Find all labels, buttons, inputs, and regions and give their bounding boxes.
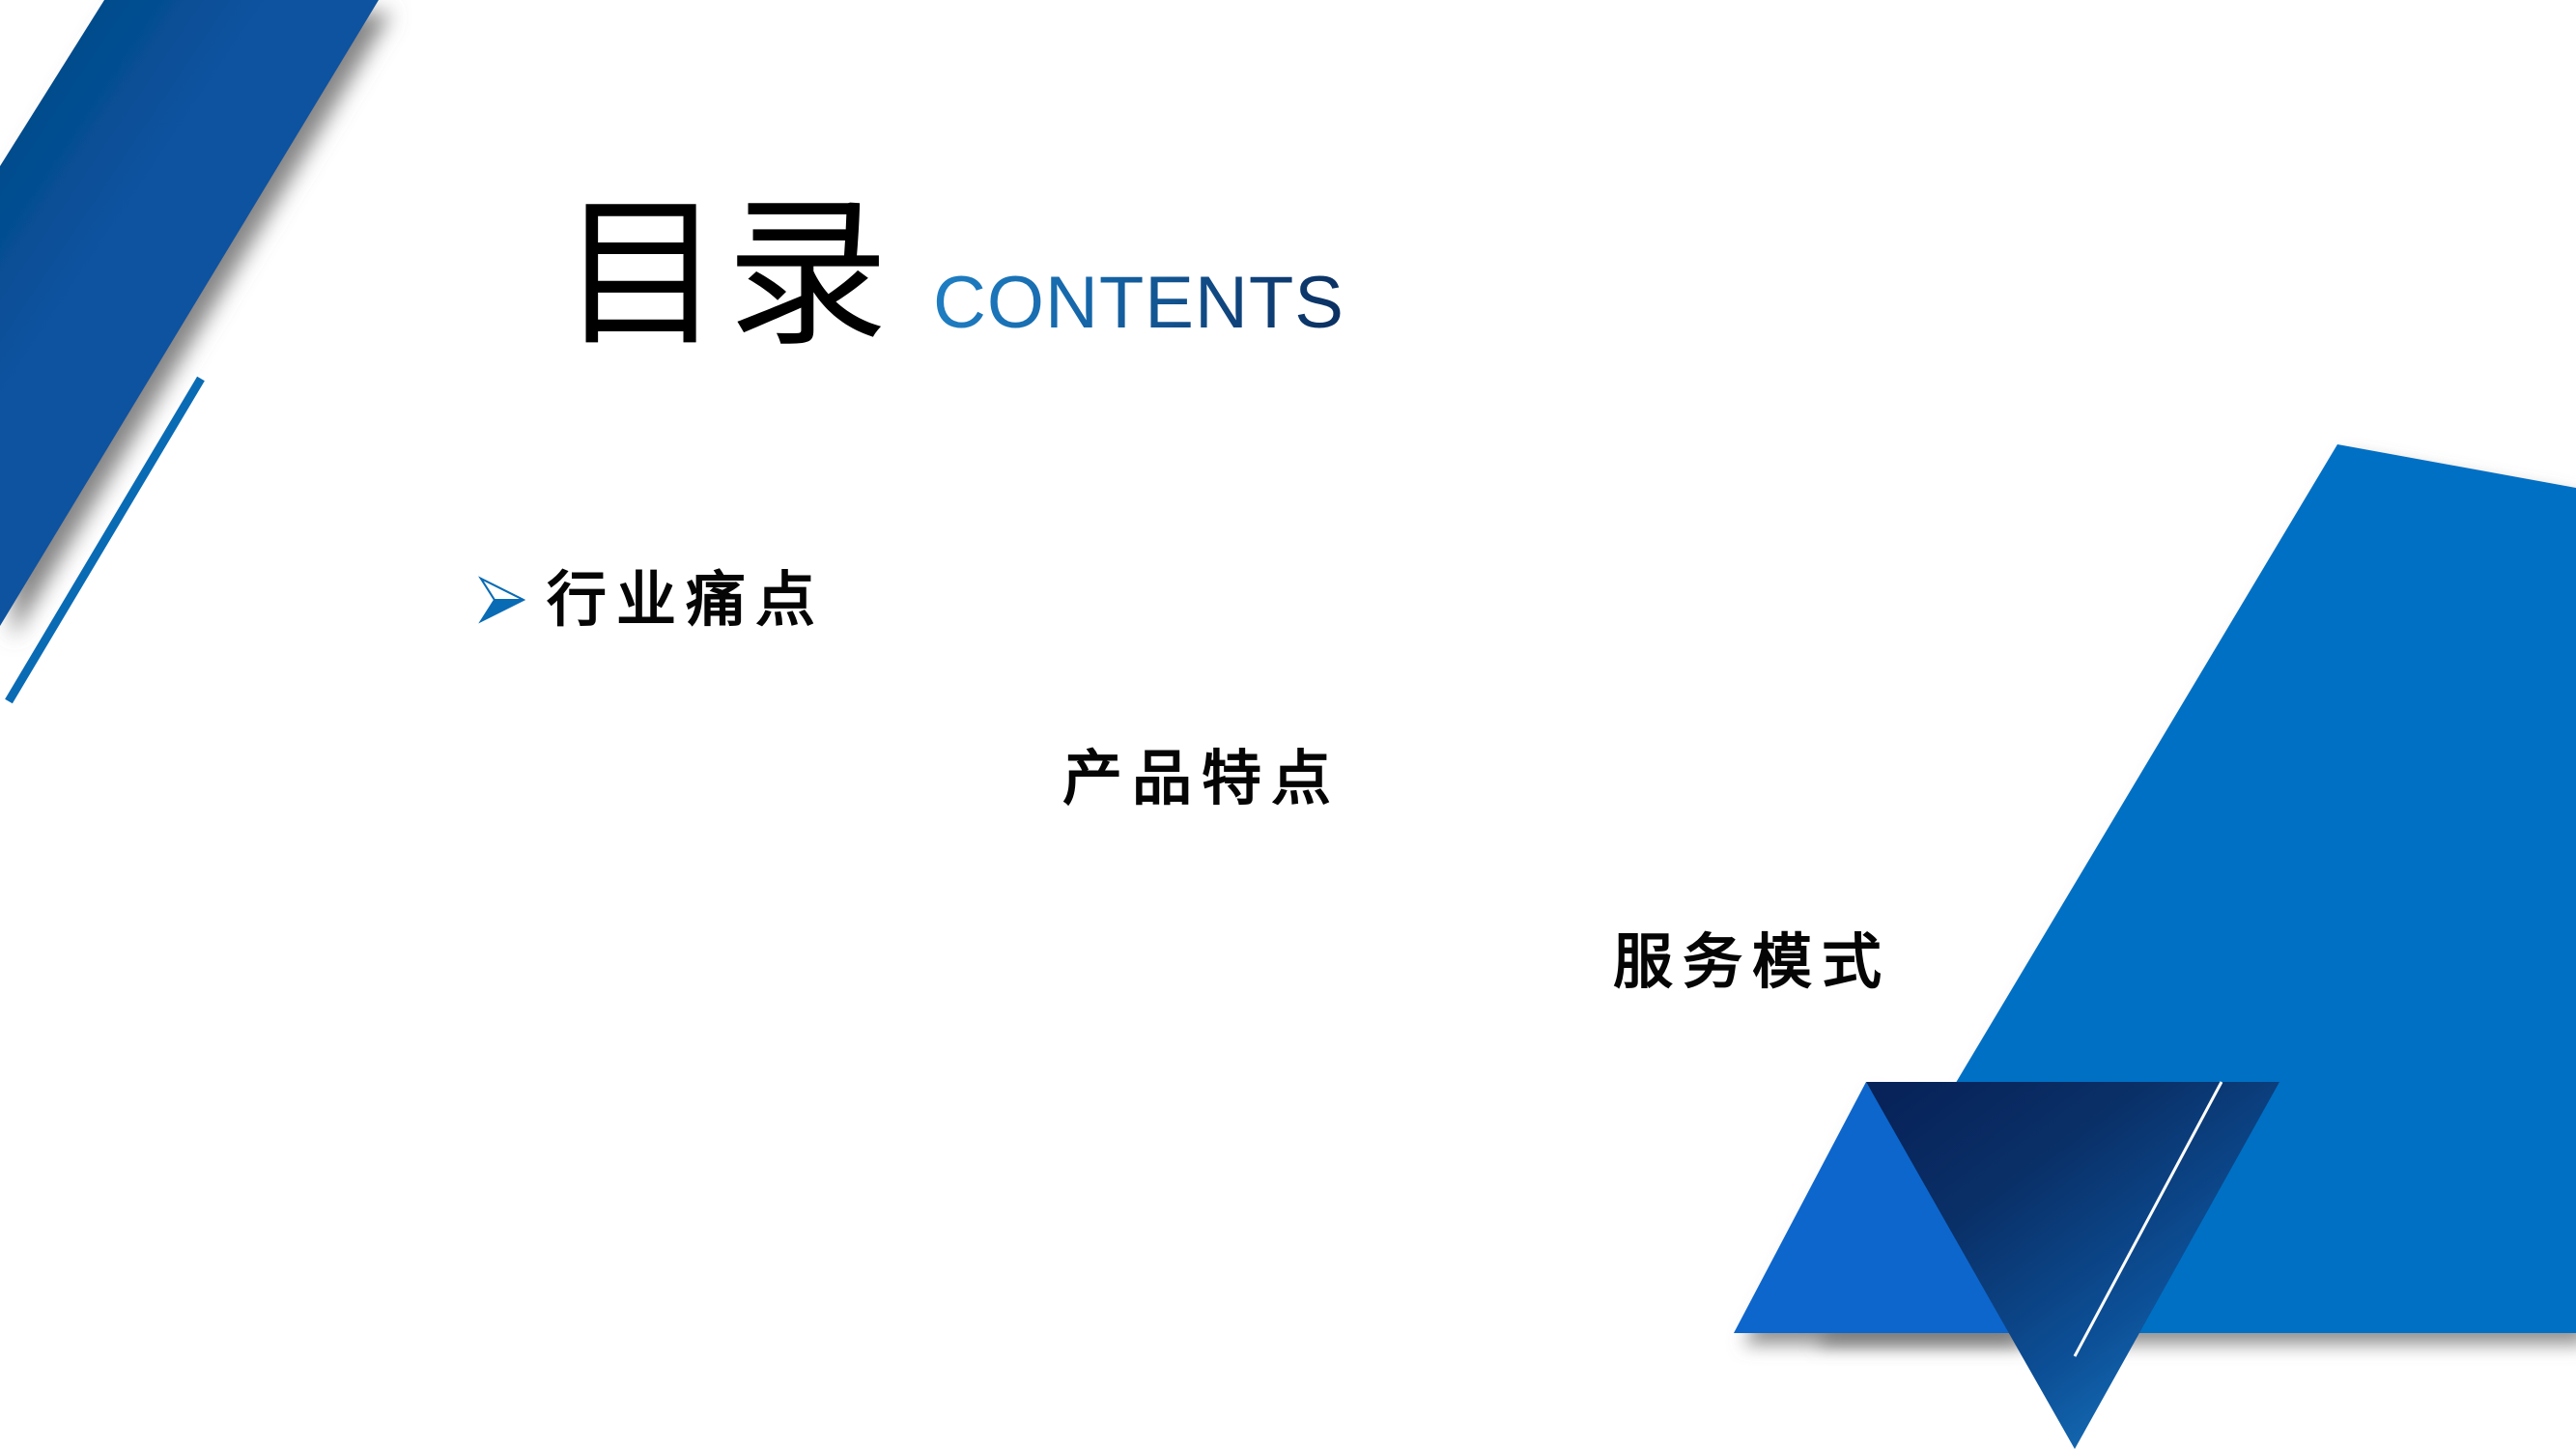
page-title: 目录 CONTENTS xyxy=(560,193,1345,355)
page-title-cn: 目录 xyxy=(560,193,892,355)
toc-item-label: 产品特点 xyxy=(1062,749,1341,809)
arrow-right-icon xyxy=(475,573,529,627)
slide-canvas: 目录 CONTENTS 行业痛点 产品特点 服务模式 xyxy=(0,0,2576,1449)
bright-blue-triangle xyxy=(1734,1082,2014,1333)
top-left-diagonal-band xyxy=(0,0,379,626)
triangle-hairline xyxy=(2075,1082,2222,1356)
toc-item-product-features[interactable]: 产品特点 xyxy=(1062,749,1341,809)
toc-item-industry-pain-points[interactable]: 行业痛点 xyxy=(475,570,825,630)
toc-item-service-model[interactable]: 服务模式 xyxy=(1613,932,1891,992)
dark-navy-triangle xyxy=(1866,1082,2279,1449)
toc-item-label: 服务模式 xyxy=(1613,932,1891,992)
right-blue-band xyxy=(1806,444,2576,1333)
page-title-en: CONTENTS xyxy=(933,267,1345,340)
toc-item-label: 行业痛点 xyxy=(547,570,825,630)
accent-diagonal-line xyxy=(9,379,201,701)
